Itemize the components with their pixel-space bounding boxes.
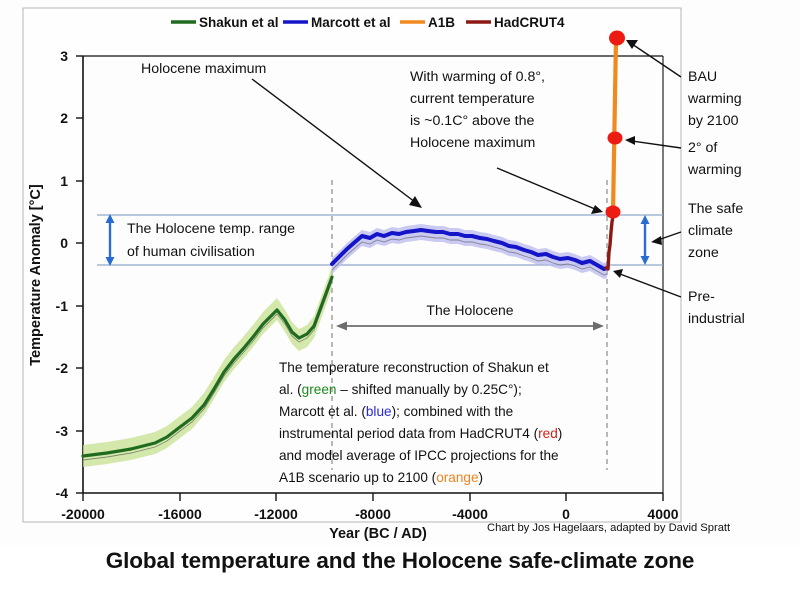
two-degree-line-2: warming xyxy=(687,162,742,178)
bau-line-3: by 2100 xyxy=(688,113,739,129)
warming-note-line-3: is ~0.1C° above the xyxy=(410,113,534,129)
caption-line-3: Marcott et al. (blue); combined with the xyxy=(279,404,513,419)
annotation-holocene-maximum: Holocene maximum xyxy=(141,61,266,77)
caption-line-4: instrumental period data from HadCRUT4 (… xyxy=(279,426,562,441)
y-tick-label-neg4: -4 xyxy=(56,485,69,501)
caption-line-6: A1B scenario up to 2100 (orange) xyxy=(279,470,483,485)
caption-line-1: The temperature reconstruction of Shakun… xyxy=(279,360,549,375)
warming-note-line-1: With warming of 0.8°, xyxy=(410,69,545,85)
x-tick-label-4000: 4000 xyxy=(647,506,678,522)
plot-area: 3 2 1 0 -1 -2 -3 -4 -20000 -16000 -12000… xyxy=(28,31,745,543)
warming-note-line-2: current temperature xyxy=(410,91,535,107)
x-tick-label-neg20000: -20000 xyxy=(61,506,105,522)
bau-line-1: BAU xyxy=(688,69,717,85)
x-tick-label-neg16000: -16000 xyxy=(158,506,202,522)
y-tick-label-neg1: -1 xyxy=(56,298,69,314)
climate-chart-svg: Shakun et al Marcott et al A1B HadCRUT4 xyxy=(0,0,800,545)
caption-line-2: al. (green – shifted manually by 0.25C°)… xyxy=(279,382,522,397)
chart-legend: Shakun et al Marcott et al A1B HadCRUT4 xyxy=(171,15,565,30)
x-tick-label-neg4000: -4000 xyxy=(452,506,488,522)
x-tick-label-neg12000: -12000 xyxy=(254,506,298,522)
x-axis-title: Year (BC / AD) xyxy=(329,526,427,542)
marker-current-temperature xyxy=(606,206,621,219)
marker-two-degree xyxy=(608,132,623,145)
a1b-projection-line xyxy=(613,38,616,214)
y-tick-label-3: 3 xyxy=(60,48,68,64)
y-tick-label-neg3: -3 xyxy=(56,423,69,439)
x-tick-label-0: 0 xyxy=(562,506,570,522)
annotation-safe-zone: The safe climate zone xyxy=(688,201,743,261)
y-axis-title: Temperature Anomaly [°C] xyxy=(28,184,44,366)
y-tick-label-neg2: -2 xyxy=(56,360,69,376)
annotation-bau: BAU warming by 2100 xyxy=(687,69,742,129)
pre-industrial-line-1: Pre- xyxy=(688,289,715,305)
safe-zone-line-1: The safe xyxy=(688,201,743,217)
annotation-pre-industrial: Pre- industrial xyxy=(688,289,745,327)
legend-label-a1b: A1B xyxy=(428,15,455,30)
y-tick-label-0: 0 xyxy=(60,235,68,251)
legend-label-marcott: Marcott et al xyxy=(311,15,391,30)
safe-zone-line-2: climate xyxy=(688,223,733,239)
page-title: Global temperature and the Holocene safe… xyxy=(0,548,800,574)
bau-line-2: warming xyxy=(687,91,742,107)
holocene-span-label: The Holocene xyxy=(426,302,513,318)
safe-zone-line-3: zone xyxy=(688,245,719,261)
x-tick-label-neg8000: -8000 xyxy=(355,506,391,522)
y-tick-label-2: 2 xyxy=(60,110,68,126)
legend-label-hadcrut4: HadCRUT4 xyxy=(494,15,565,30)
annotation-two-degree: 2° of warming xyxy=(687,140,742,178)
caption-line-5: and model average of IPCC projections fo… xyxy=(279,448,559,463)
legend-label-shakun: Shakun et al xyxy=(199,15,279,30)
two-degree-line-1: 2° of xyxy=(688,140,717,156)
holocene-range-line-1: The Holocene temp. range xyxy=(127,221,295,237)
chart-figure-root: Shakun et al Marcott et al A1B HadCRUT4 xyxy=(0,0,800,600)
chart-credit: Chart by Jos Hagelaars, adapted by David… xyxy=(487,522,731,534)
warming-note-line-4: Holocene maximum xyxy=(410,135,535,151)
pre-industrial-line-2: industrial xyxy=(688,311,745,327)
marker-bau-2100 xyxy=(609,31,625,46)
holocene-range-line-2: of human civilisation xyxy=(127,244,255,260)
y-tick-label-1: 1 xyxy=(60,173,68,189)
